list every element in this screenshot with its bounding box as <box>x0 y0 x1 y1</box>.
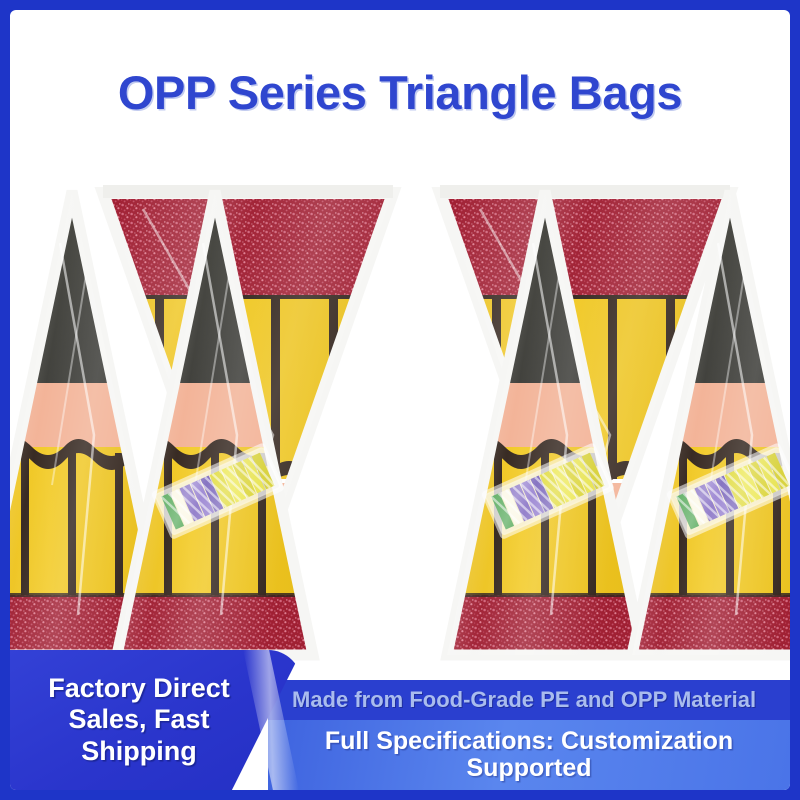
spec-band: Full Specifications: Customization Suppo… <box>268 720 790 790</box>
badge-line-1: Factory Direct <box>48 673 230 703</box>
product-photo <box>10 175 790 675</box>
spec-line-2: Supported <box>467 754 592 782</box>
title-zone: OPP Series Triangle Bags <box>10 10 790 175</box>
material-band: Made from Food-Grade PE and OPP Material <box>268 680 790 720</box>
factory-direct-badge: Factory Direct Sales, Fast Shipping <box>10 650 302 790</box>
poster-canvas: OPP Series Triangle Bags <box>10 10 790 790</box>
badge-line-3: Shipping <box>81 736 196 766</box>
factory-direct-text: Factory Direct Sales, Fast Shipping <box>20 673 258 767</box>
poster: OPP Series Triangle Bags <box>0 0 800 800</box>
spec-banner: Made from Food-Grade PE and OPP Material… <box>268 680 790 790</box>
badge-line-2: Sales, Fast <box>68 704 209 734</box>
spec-line-1: Full Specifications: Customization <box>325 727 733 755</box>
spec-text: Full Specifications: Customization Suppo… <box>325 728 733 782</box>
page-title: OPP Series Triangle Bags <box>118 65 682 120</box>
material-text: Made from Food-Grade PE and OPP Material <box>292 687 756 713</box>
triangle-bags-illustration <box>10 175 790 675</box>
